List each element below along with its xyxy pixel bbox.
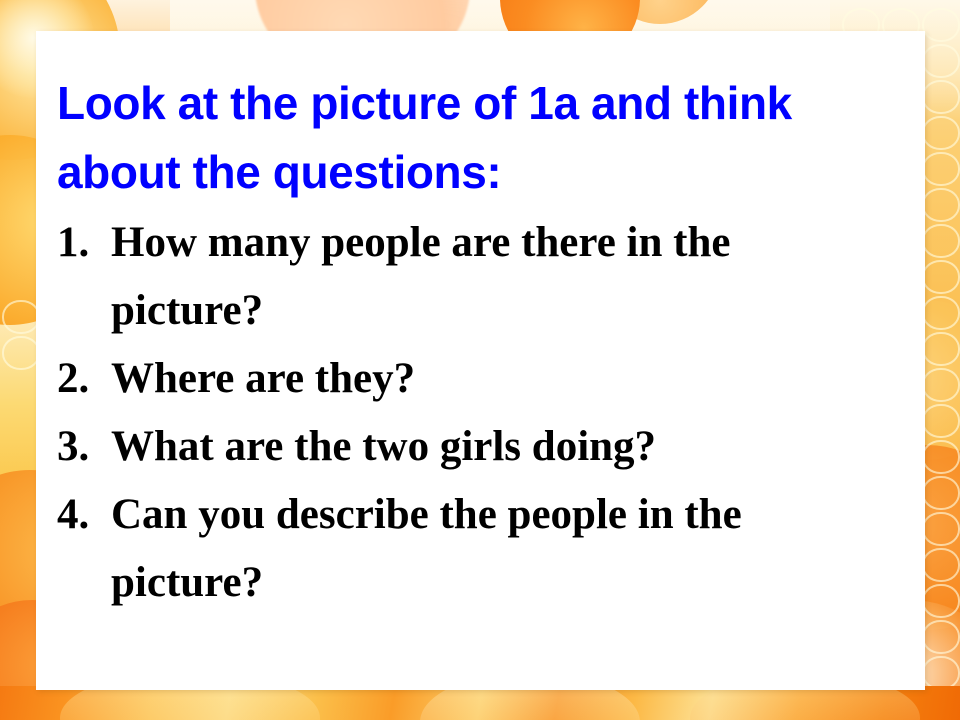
content-card-body: Look at the picture of 1a and think abou… [57, 71, 907, 617]
ring-icon [2, 300, 40, 334]
question-item-3: 3. What are the two girls doing? [57, 413, 907, 481]
ring-icon [922, 152, 960, 186]
question-number: 3. [57, 413, 111, 481]
ring-icon [922, 332, 960, 366]
ring-icon [922, 584, 960, 618]
question-list: 1. How many people are there in the pict… [57, 209, 907, 617]
question-text: Where are they? [111, 345, 907, 413]
question-text: Can you describe the people in the pictu… [111, 481, 907, 617]
ring-icon [922, 440, 960, 474]
ring-icon [922, 512, 960, 546]
question-number: 2. [57, 345, 111, 413]
question-text: What are the two girls doing? [111, 413, 907, 481]
ring-icon [922, 188, 960, 222]
slide-canvas: Look at the picture of 1a and think abou… [0, 0, 960, 720]
ring-icon [922, 296, 960, 330]
slide-heading-line-1: Look at the picture of 1a and think [57, 71, 907, 136]
question-item-1: 1. How many people are there in the pict… [57, 209, 907, 345]
ring-icon [922, 620, 960, 654]
ring-icon [922, 656, 960, 690]
slide-heading-line-2: about the questions: [57, 140, 907, 205]
ring-icon [922, 44, 960, 78]
ring-icon [922, 260, 960, 294]
question-number: 4. [57, 481, 111, 549]
ring-icon [922, 404, 960, 438]
question-number: 1. [57, 209, 111, 277]
ring-icon [922, 368, 960, 402]
content-card: Look at the picture of 1a and think abou… [36, 31, 925, 690]
question-item-4: 4. Can you describe the people in the pi… [57, 481, 907, 617]
question-text: How many people are there in the picture… [111, 209, 907, 345]
ring-icon [922, 80, 960, 114]
ring-icon [922, 476, 960, 510]
ring-icon [2, 336, 40, 370]
ring-icon [922, 8, 960, 42]
ring-icon [922, 548, 960, 582]
ring-icon [922, 224, 960, 258]
ring-icon [922, 116, 960, 150]
question-item-2: 2. Where are they? [57, 345, 907, 413]
